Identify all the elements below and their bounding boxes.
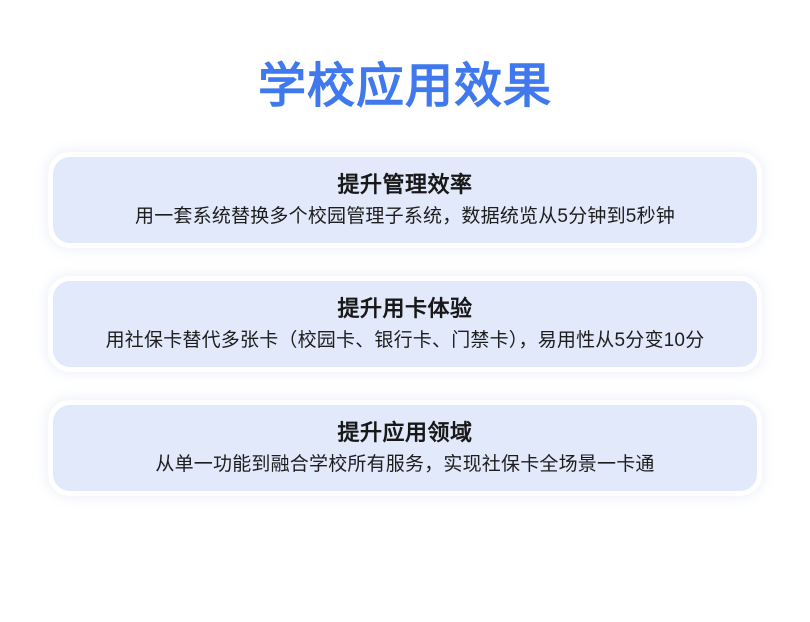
benefit-card-1[interactable]: 提升管理效率 用一套系统替换多个校园管理子系统，数据统览从5分钟到5秒钟 xyxy=(48,152,762,248)
benefit-card-title: 提升用卡体验 xyxy=(337,294,472,324)
benefit-card-description: 用一套系统替换多个校园管理子系统，数据统览从5分钟到5秒钟 xyxy=(135,203,675,231)
benefit-card-3[interactable]: 提升应用领域 从单一功能到融合学校所有服务，实现社保卡全场景一卡通 xyxy=(48,400,762,496)
slide-page: 学校应用效果 提升管理效率 用一套系统替换多个校园管理子系统，数据统览从5分钟到… xyxy=(0,0,810,622)
benefit-card-title: 提升应用领域 xyxy=(337,418,472,448)
benefit-card-description: 从单一功能到融合学校所有服务，实现社保卡全场景一卡通 xyxy=(155,451,654,479)
benefit-card-description: 用社保卡替代多张卡（校园卡、银行卡、门禁卡），易用性从5分变10分 xyxy=(106,327,705,355)
page-title: 学校应用效果 xyxy=(0,58,810,116)
benefit-card-title: 提升管理效率 xyxy=(337,170,472,200)
benefit-card-2[interactable]: 提升用卡体验 用社保卡替代多张卡（校园卡、银行卡、门禁卡），易用性从5分变10分 xyxy=(48,276,762,372)
benefit-card-list: 提升管理效率 用一套系统替换多个校园管理子系统，数据统览从5分钟到5秒钟 提升用… xyxy=(48,152,762,496)
